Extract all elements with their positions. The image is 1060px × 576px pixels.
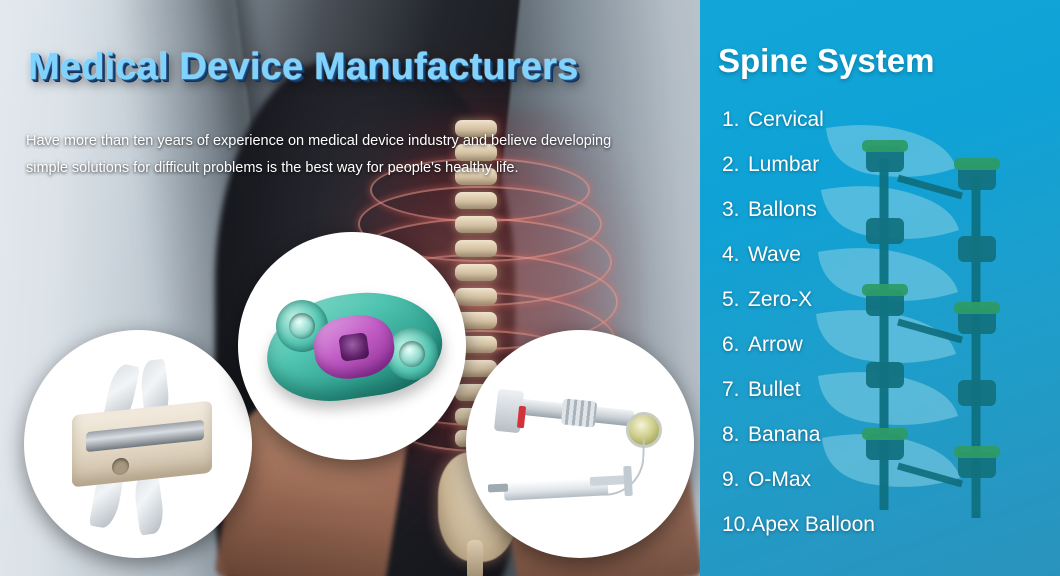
product-circle-cage — [24, 330, 252, 558]
list-item-number: 8. — [722, 423, 748, 447]
list-item-number: 2. — [722, 153, 748, 177]
list-item-label: Arrow — [748, 333, 803, 357]
page-subtitle: Have more than ten years of experience o… — [26, 128, 626, 182]
plate-screw-hole — [289, 313, 315, 339]
list-item-number: 4. — [722, 243, 748, 267]
list-item-number: 3. — [722, 198, 748, 222]
list-item-label: O-Max — [748, 468, 811, 492]
list-item[interactable]: 9. O-Max — [722, 468, 1052, 513]
syringe-flange — [623, 466, 633, 496]
vertebra — [455, 240, 497, 257]
list-item[interactable]: 7. Bullet — [722, 378, 1052, 423]
list-item-number: 7. — [722, 378, 748, 402]
panel-title: Spine System — [718, 42, 934, 80]
product-circle-plate — [238, 232, 466, 460]
vertebra — [455, 264, 497, 281]
plate-screw-hole — [399, 341, 425, 367]
list-item-number: 9. — [722, 468, 748, 492]
coccyx — [467, 540, 483, 576]
list-item[interactable]: 4. Wave — [722, 243, 1052, 288]
list-item-label: Banana — [748, 423, 820, 447]
spine-system-panel: Spine System 1. Cervical 2. Lumbar 3. Ba… — [700, 0, 1060, 576]
list-item[interactable]: 1. Cervical — [722, 108, 1052, 153]
vertebra — [455, 192, 497, 209]
list-item[interactable]: 6. Arrow — [722, 333, 1052, 378]
handle-grip — [561, 398, 598, 427]
list-item-label: Wave — [748, 243, 801, 267]
list-item-label: Zero-X — [748, 288, 812, 312]
list-item[interactable]: 2. Lumbar — [722, 153, 1052, 198]
list-item[interactable]: 8. Banana — [722, 423, 1052, 468]
list-item-number: 6. — [722, 333, 748, 357]
list-item-number: 10. — [722, 513, 751, 537]
list-item[interactable]: 5. Zero-X — [722, 288, 1052, 333]
plate-locking-screw — [338, 332, 369, 362]
syringe-tip — [488, 483, 508, 492]
list-item[interactable]: 10. Apex Balloon — [722, 513, 1052, 558]
product-circle-balloon-kit — [466, 330, 694, 558]
list-item-label: Bullet — [748, 378, 801, 402]
list-item-label: Cervical — [748, 108, 824, 132]
page-title: Medical Device Manufacturers — [28, 46, 578, 89]
vertebra — [455, 288, 497, 305]
spine-system-list: 1. Cervical 2. Lumbar 3. Ballons 4. Wave… — [722, 108, 1052, 558]
handle-red-marker — [517, 406, 526, 429]
list-item-number: 1. — [722, 108, 748, 132]
list-item-label: Lumbar — [748, 153, 819, 177]
list-item[interactable]: 3. Ballons — [722, 198, 1052, 243]
vertebra — [455, 216, 497, 233]
list-item-label: Ballons — [748, 198, 817, 222]
medical-device-banner: Medical Device Manufacturers Have more t… — [0, 0, 1060, 576]
list-item-number: 5. — [722, 288, 748, 312]
list-item-label: Apex Balloon — [751, 513, 875, 537]
